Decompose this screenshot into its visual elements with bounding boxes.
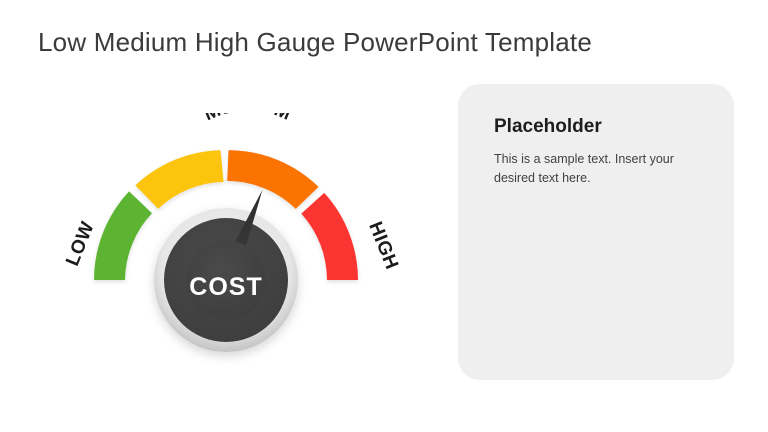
panel-body-text: This is a sample text. Insert your desir… [494, 150, 699, 189]
gauge-label-medium-text: MEDIUM [201, 113, 295, 125]
panel-heading: Placeholder [494, 116, 602, 138]
gauge-label-medium: MEDIUM [168, 113, 328, 153]
gauge-center-label: COST [189, 273, 262, 301]
page-title: Low Medium High Gauge PowerPoint Templat… [38, 27, 592, 58]
svg-text:MEDIUM: MEDIUM [201, 113, 295, 125]
placeholder-panel: Placeholder This is a sample text. Inser… [458, 84, 734, 380]
slide-canvas: Low Medium High Gauge PowerPoint Templat… [0, 0, 768, 432]
gauge-chart: COST LOW HIGH MEDIUM [28, 95, 428, 385]
